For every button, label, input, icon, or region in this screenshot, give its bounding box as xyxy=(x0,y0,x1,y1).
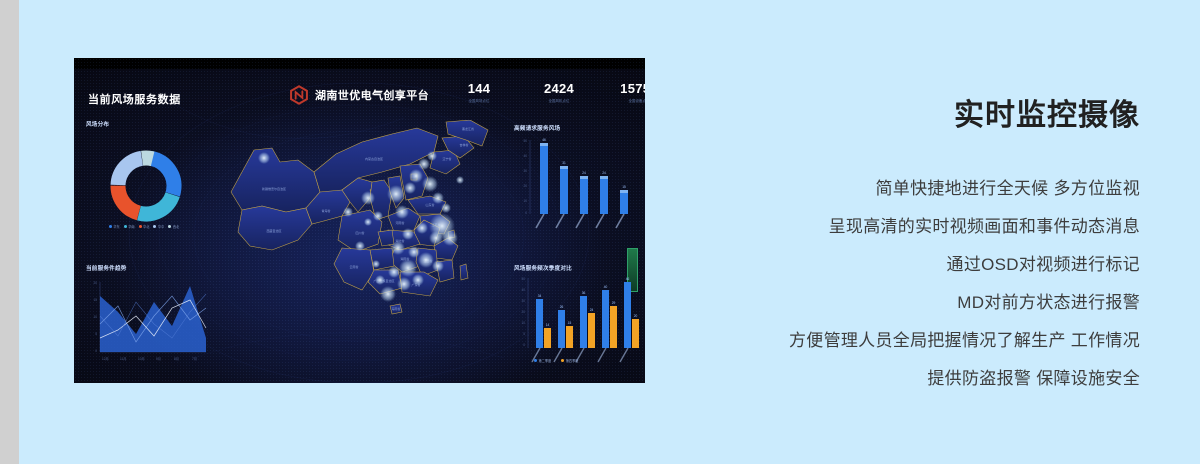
svg-text:海南省: 海南省 xyxy=(391,306,400,311)
donut-chart xyxy=(86,128,206,236)
legend-label: 华东 xyxy=(113,224,119,229)
bars xyxy=(540,143,628,214)
legend-swatch-icon xyxy=(109,225,112,228)
legend-label: 西北 xyxy=(173,224,179,229)
svg-text:50: 50 xyxy=(521,277,525,281)
left-gutter xyxy=(0,0,19,464)
legend-item: 华中 xyxy=(153,224,164,229)
legend-item: 华东 xyxy=(109,224,120,229)
y-tick: 5 xyxy=(95,332,97,336)
legend-swatch-icon xyxy=(124,225,127,228)
quarterly-comparison-card: 风场服务频次季度对比 5040 3020 105 0 xyxy=(514,264,642,372)
x-tick: 12月 xyxy=(102,357,109,361)
kpi-label: 全国风场点位 xyxy=(456,98,502,104)
bar-value: 46 xyxy=(542,138,546,142)
y-tick: 20 xyxy=(93,281,97,285)
svg-text:山东省: 山东省 xyxy=(425,202,434,207)
x-tick: 11月 xyxy=(120,357,127,361)
kpi-label: 全国设备点位 xyxy=(616,98,645,104)
legend-item: 第二季度 xyxy=(534,358,551,363)
dashboard-panel: 当前风场服务数据 湖南世优电气创享平台 144 全国风场点位 2424 全国风机… xyxy=(74,58,645,383)
legend-swatch-icon xyxy=(153,225,156,228)
svg-text:14: 14 xyxy=(546,323,550,327)
panel-top-bar xyxy=(74,58,645,69)
copy-line: 呈现高清的实时视频画面和事件动态消息 xyxy=(660,216,1140,238)
svg-text:0: 0 xyxy=(523,343,525,347)
svg-text:10: 10 xyxy=(521,321,525,325)
bar-top-chart: 50 40 30 20 10 0 xyxy=(514,132,639,232)
bar-bottom-legend: 第二季度 第四季度 xyxy=(534,358,579,363)
kpi-row: 144 全国风场点位 2424 全国风机点位 15753 全国设备点位 xyxy=(456,82,645,104)
trend-title: 当前服务件趋势 xyxy=(86,264,210,272)
hexagon-logo-icon xyxy=(289,85,309,105)
copy-line: 提供防盗报警 保障设施安全 xyxy=(660,368,1140,390)
bar-value: 15 xyxy=(622,185,626,189)
feature-copy: 实时监控摄像 简单快捷地进行全天候 多方位监视 呈现高清的实时视频画面和事件动态… xyxy=(660,90,1140,390)
svg-text:辽宁省: 辽宁省 xyxy=(442,156,451,161)
svg-text:西藏自治区: 西藏自治区 xyxy=(266,228,281,233)
legend-label: 第二季度 xyxy=(539,358,552,363)
svg-text:云南省: 云南省 xyxy=(349,264,358,269)
bar-bottom-title: 风场服务频次季度对比 xyxy=(514,264,642,272)
panel-title: 当前风场服务数据 xyxy=(88,91,181,107)
y-tick: 10 xyxy=(523,199,527,203)
y-tick: 10 xyxy=(93,315,97,319)
svg-text:15: 15 xyxy=(568,321,572,325)
kpi-value: 144 xyxy=(456,82,502,96)
svg-text:46: 46 xyxy=(626,277,630,281)
legend-label: 第四季度 xyxy=(566,358,579,363)
donut-title: 风场分布 xyxy=(86,120,206,128)
kpi-item: 15753 全国设备点位 xyxy=(616,82,645,104)
legend-swatch-icon xyxy=(561,359,564,362)
bar-bottom-chart: 5040 3020 105 0 xyxy=(514,272,642,366)
y-tick: 15 xyxy=(93,298,97,302)
legend-swatch-icon xyxy=(139,225,142,228)
legend-swatch-icon xyxy=(534,359,537,362)
china-map: 新疆维吾尔自治区 西藏自治区 内蒙古自治区 青海省 四川省 湖南省 江西省 云南… xyxy=(202,120,522,378)
svg-text:40: 40 xyxy=(521,288,525,292)
legend-swatch-icon xyxy=(168,225,171,228)
trend-card: 当前服务件趋势 20 15 10 5 0 12月 11月 10月 9月 8月 7… xyxy=(86,264,210,372)
svg-text:四川省: 四川省 xyxy=(355,230,364,235)
trend-area xyxy=(100,286,206,352)
y-tick: 30 xyxy=(523,169,527,173)
y-tick: 0 xyxy=(95,349,97,353)
x-tick: 7月 xyxy=(192,357,197,361)
kpi-label: 全国风机点位 xyxy=(536,98,582,104)
svg-text:36: 36 xyxy=(582,291,586,295)
svg-text:26: 26 xyxy=(560,305,564,309)
brand-block: 湖南世优电气创享平台 xyxy=(289,85,429,105)
donut-legend: 华东 华南 华北 华中 西北 xyxy=(88,224,200,229)
bars xyxy=(536,282,639,348)
svg-text:河南省: 河南省 xyxy=(395,220,404,225)
kpi-value: 15753 xyxy=(616,82,645,96)
x-tick: 9月 xyxy=(156,357,161,361)
legend-label: 华南 xyxy=(128,224,134,229)
svg-text:24: 24 xyxy=(590,308,594,312)
svg-text:34: 34 xyxy=(538,294,542,298)
svg-text:20: 20 xyxy=(521,310,525,314)
brand-name: 湖南世优电气创享平台 xyxy=(315,87,429,103)
svg-text:5: 5 xyxy=(523,332,525,336)
svg-text:30: 30 xyxy=(521,299,525,303)
legend-item: 西北 xyxy=(168,224,179,229)
legend-item: 第四季度 xyxy=(561,358,578,363)
svg-text:吉林省: 吉林省 xyxy=(459,142,468,147)
y-tick: 50 xyxy=(523,139,527,143)
copy-line: 方便管理人员全局把握情况了解生产 工作情况 xyxy=(660,330,1140,352)
kpi-item: 2424 全国风机点位 xyxy=(536,82,582,104)
trend-chart: 20 15 10 5 0 12月 11月 10月 9月 8月 7月 xyxy=(86,272,210,368)
svg-text:40: 40 xyxy=(604,285,608,289)
copy-line: 简单快捷地进行全天候 多方位监视 xyxy=(660,178,1140,200)
x-tick: 10月 xyxy=(138,357,145,361)
bar-value: 31 xyxy=(562,161,566,165)
y-tick: 0 xyxy=(525,211,527,215)
svg-text:29: 29 xyxy=(612,301,616,305)
y-tick: 20 xyxy=(523,184,527,188)
bar-top-title: 高频请求服务风场 xyxy=(514,124,639,132)
bar-value: 24 xyxy=(582,171,586,175)
y-tick: 40 xyxy=(523,154,527,158)
svg-text:黑龙江省: 黑龙江省 xyxy=(462,126,474,131)
x-tick: 8月 xyxy=(174,357,179,361)
legend-label: 华中 xyxy=(158,224,164,229)
legend-item: 华北 xyxy=(139,224,150,229)
high-frequency-bar-card: 高频请求服务风场 50 40 30 20 10 0 xyxy=(514,124,639,236)
copy-line: MD对前方状态进行报警 xyxy=(660,292,1140,314)
copy-line: 通过OSD对视频进行标记 xyxy=(660,254,1140,276)
svg-text:新疆维吾尔自治区: 新疆维吾尔自治区 xyxy=(262,186,286,191)
svg-text:青海省: 青海省 xyxy=(321,208,330,213)
page-title: 实时监控摄像 xyxy=(660,90,1140,134)
svg-text:20: 20 xyxy=(634,314,638,318)
svg-text:内蒙古自治区: 内蒙古自治区 xyxy=(365,156,383,161)
bar-value: 24 xyxy=(602,171,606,175)
kpi-item: 144 全国风场点位 xyxy=(456,82,502,104)
legend-item: 华南 xyxy=(124,224,135,229)
legend-label: 华北 xyxy=(143,224,149,229)
kpi-value: 2424 xyxy=(536,82,582,96)
